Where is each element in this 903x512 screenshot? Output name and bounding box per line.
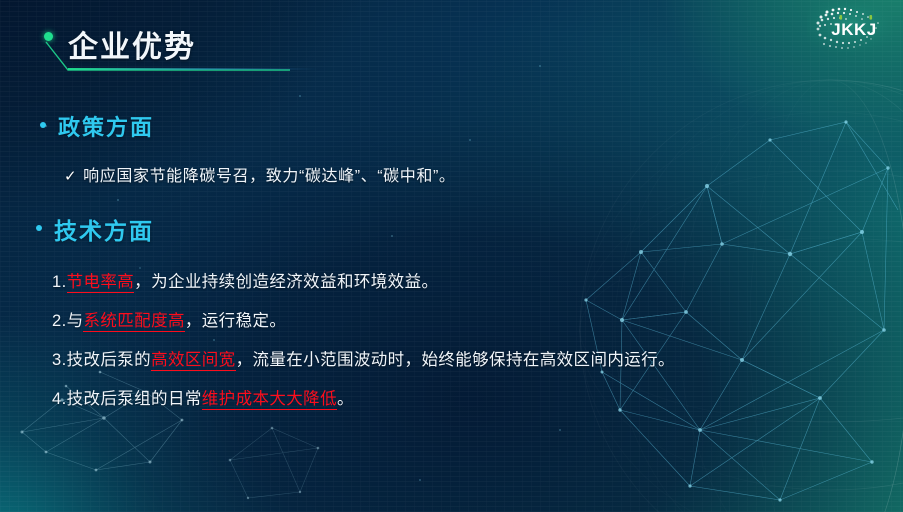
item-post-text: 。 <box>337 390 354 408</box>
tech-list-item: 1.节电率高，为企业持续创造经济效益和环境效益。 <box>52 268 438 292</box>
tech-list-item: 3.技改后泵的高效区间宽，流量在小范围波动时，始终能够保持在高效区间内运行。 <box>52 346 675 370</box>
section-heading-tech: 技术方面 <box>36 212 154 246</box>
item-post-text: ，为企业持续创造经济效益和环境效益。 <box>134 273 438 291</box>
item-pre-text: 技改后泵的 <box>67 351 152 369</box>
section-label-tech: 技术方面 <box>54 212 154 246</box>
item-post-text: ，运行稳定。 <box>185 312 286 330</box>
item-post-text: ，流量在小范围波动时，始终能够保持在高效区间内运行。 <box>236 351 675 369</box>
slide-content: 政策方面 ✓响应国家节能降碳号召，致力“碳达峰”、“碳中和”。 技术方面 1.节… <box>0 0 903 512</box>
policy-item-text: 响应国家节能降碳号召，致力“碳达峰”、“碳中和”。 <box>83 168 455 185</box>
policy-checklist-item: ✓响应国家节能降碳号召，致力“碳达峰”、“碳中和”。 <box>64 162 456 186</box>
item-number: 4. <box>52 390 67 408</box>
item-pre-text: 与 <box>67 312 84 330</box>
slide-canvas: JKKJ 企业优势 政策方面 ✓响应国家节能降碳号召，致力“碳达峰”、“碳中和”… <box>0 0 903 512</box>
item-number: 2. <box>52 312 67 330</box>
item-highlight: 高效区间宽 <box>151 351 236 371</box>
item-highlight: 系统匹配度高 <box>83 312 184 332</box>
bullet-dot-icon <box>40 122 46 128</box>
bullet-dot-icon <box>36 225 42 231</box>
item-number: 1. <box>52 273 67 291</box>
section-label-policy: 政策方面 <box>58 110 154 142</box>
tech-list-item: 2.与系统匹配度高，运行稳定。 <box>52 307 286 331</box>
section-heading-policy: 政策方面 <box>40 110 154 142</box>
item-pre-text: 技改后泵组的日常 <box>67 390 202 408</box>
tech-list-item: 4.技改后泵组的日常维护成本大大降低。 <box>52 385 354 409</box>
item-highlight: 节电率高 <box>67 273 135 293</box>
item-number: 3. <box>52 351 67 369</box>
check-mark-icon: ✓ <box>64 167 77 185</box>
item-highlight: 维护成本大大降低 <box>202 390 337 410</box>
